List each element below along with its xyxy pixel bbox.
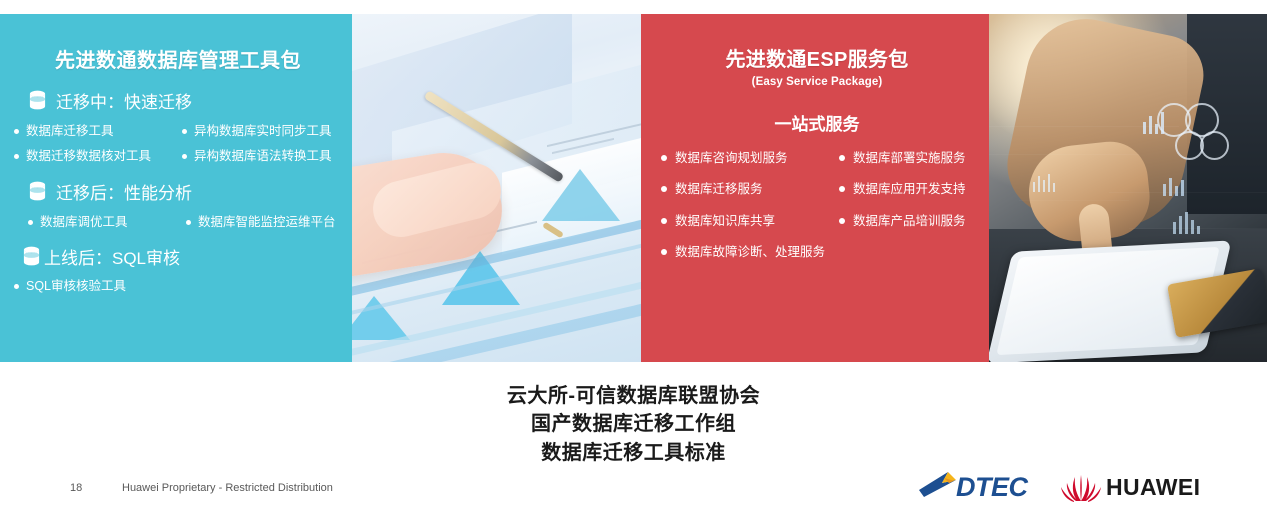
tool-list-migrating: 数据库迁移工具 异构数据库实时同步工具 数据迁移数据核对工具 异构数据库语法转换… xyxy=(14,124,342,164)
database-icon xyxy=(22,246,41,267)
bullet-dot-icon xyxy=(182,129,187,134)
phase-heading-label: 上线后：SQL审核 xyxy=(44,244,180,269)
headline-line-3: 数据库迁移工具标准 xyxy=(0,439,1267,467)
list-item: 数据迁移数据核对工具 xyxy=(14,149,182,163)
list-item: 数据库故障诊断、处理服务 xyxy=(661,245,839,259)
list-item-label: 数据库智能监控运维平台 xyxy=(198,215,336,229)
headline-line-1: 云大所-可信数据库联盟协会 xyxy=(0,382,1267,410)
bullet-dot-icon xyxy=(14,284,19,289)
service-list: 数据库咨询规划服务 数据库部署实施服务 数据库迁移服务 数据库应用开发支持 数据… xyxy=(661,151,981,260)
one-stop-service-heading: 一站式服务 xyxy=(653,110,981,135)
esp-package-subtitle: (Easy Service Package) xyxy=(653,76,981,88)
list-item: 数据库迁移服务 xyxy=(661,182,839,196)
list-item-label: 数据库咨询规划服务 xyxy=(675,151,788,165)
list-item-label: 数据迁移数据核对工具 xyxy=(26,149,151,163)
list-item: 数据库部署实施服务 xyxy=(839,151,981,165)
phase-heading-migrating: 迁移中：快速迁移 xyxy=(28,88,342,113)
confidentiality-note: Huawei Proprietary - Restricted Distribu… xyxy=(122,482,333,494)
phase-heading-after-golive: 上线后：SQL审核 xyxy=(22,244,342,269)
list-item-label: 异构数据库语法转换工具 xyxy=(194,149,332,163)
list-item: 异构数据库实时同步工具 xyxy=(182,124,342,138)
list-item-label: 数据库产品培训服务 xyxy=(853,214,966,228)
list-item-label: 数据库迁移工具 xyxy=(26,124,114,138)
list-item: 数据库知识库共享 xyxy=(661,214,839,228)
list-item-label: 数据库应用开发支持 xyxy=(853,182,966,196)
bullet-dot-icon xyxy=(186,220,191,225)
database-icon xyxy=(28,181,47,202)
bullet-dot-icon xyxy=(839,218,845,224)
list-item-label: 异构数据库实时同步工具 xyxy=(194,124,332,138)
list-item-label: 数据库迁移服务 xyxy=(675,182,763,196)
list-item-label: 数据库故障诊断、处理服务 xyxy=(675,245,825,259)
bullet-dot-icon xyxy=(182,154,187,159)
esp-service-package-panel: 先进数通ESP服务包 (Easy Service Package) 一站式服务 … xyxy=(641,14,989,362)
list-item-label: 数据库调优工具 xyxy=(40,215,128,229)
list-item-label: 数据库部署实施服务 xyxy=(853,151,966,165)
headline-block: 云大所-可信数据库联盟协会 国产数据库迁移工作组 数据库迁移工具标准 xyxy=(0,382,1267,467)
bullet-dot-icon xyxy=(661,249,667,255)
list-item: SQL审核核验工具 xyxy=(14,279,342,293)
bullet-dot-icon xyxy=(14,129,19,134)
tools-package-panel: 先进数通数据库管理工具包 迁移中：快速迁移 数据库迁移工具 异构数据库实时同步工… xyxy=(0,14,352,362)
bullet-dot-icon xyxy=(14,154,19,159)
esp-package-title: 先进数通ESP服务包 xyxy=(653,43,981,72)
tool-list-after-golive: SQL审核核验工具 xyxy=(14,279,342,293)
list-item: 异构数据库语法转换工具 xyxy=(182,149,342,163)
list-item: 数据库应用开发支持 xyxy=(839,182,981,196)
dtec-logo-label: DTEC xyxy=(956,472,1028,503)
huawei-logo-label: HUAWEI xyxy=(1106,474,1200,501)
database-icon xyxy=(28,90,47,111)
page-number: 18 xyxy=(70,482,82,494)
list-item: 数据库调优工具 xyxy=(28,215,186,229)
bullet-dot-icon xyxy=(661,155,667,161)
tools-package-title: 先进数通数据库管理工具包 xyxy=(14,44,342,73)
bullet-dot-icon xyxy=(661,218,667,224)
bullet-dot-icon xyxy=(661,186,667,192)
hand-with-pen-over-charts-photo xyxy=(352,14,641,362)
banner-strip: 先进数通数据库管理工具包 迁移中：快速迁移 数据库迁移工具 异构数据库实时同步工… xyxy=(0,14,1267,362)
list-item: 数据库咨询规划服务 xyxy=(661,151,839,165)
list-item-label: SQL审核核验工具 xyxy=(26,279,126,293)
tool-list-after-migration: 数据库调优工具 数据库智能监控运维平台 xyxy=(28,215,342,229)
bullet-dot-icon xyxy=(839,186,845,192)
bullet-dot-icon xyxy=(839,155,845,161)
phase-heading-after-migration: 迁移后：性能分析 xyxy=(28,179,342,204)
list-item: 数据库产品培训服务 xyxy=(839,214,981,228)
list-item: 数据库迁移工具 xyxy=(14,124,182,138)
finger-touching-tablet-with-data-overlay-photo xyxy=(989,14,1267,362)
headline-line-2: 国产数据库迁移工作组 xyxy=(0,410,1267,438)
phase-heading-label: 迁移后：性能分析 xyxy=(56,179,192,204)
list-item: 数据库智能监控运维平台 xyxy=(186,215,342,229)
phase-heading-label: 迁移中：快速迁移 xyxy=(56,88,192,113)
list-item-label: 数据库知识库共享 xyxy=(675,214,775,228)
bullet-dot-icon xyxy=(28,220,33,225)
huawei-logo-icon xyxy=(1060,471,1102,503)
